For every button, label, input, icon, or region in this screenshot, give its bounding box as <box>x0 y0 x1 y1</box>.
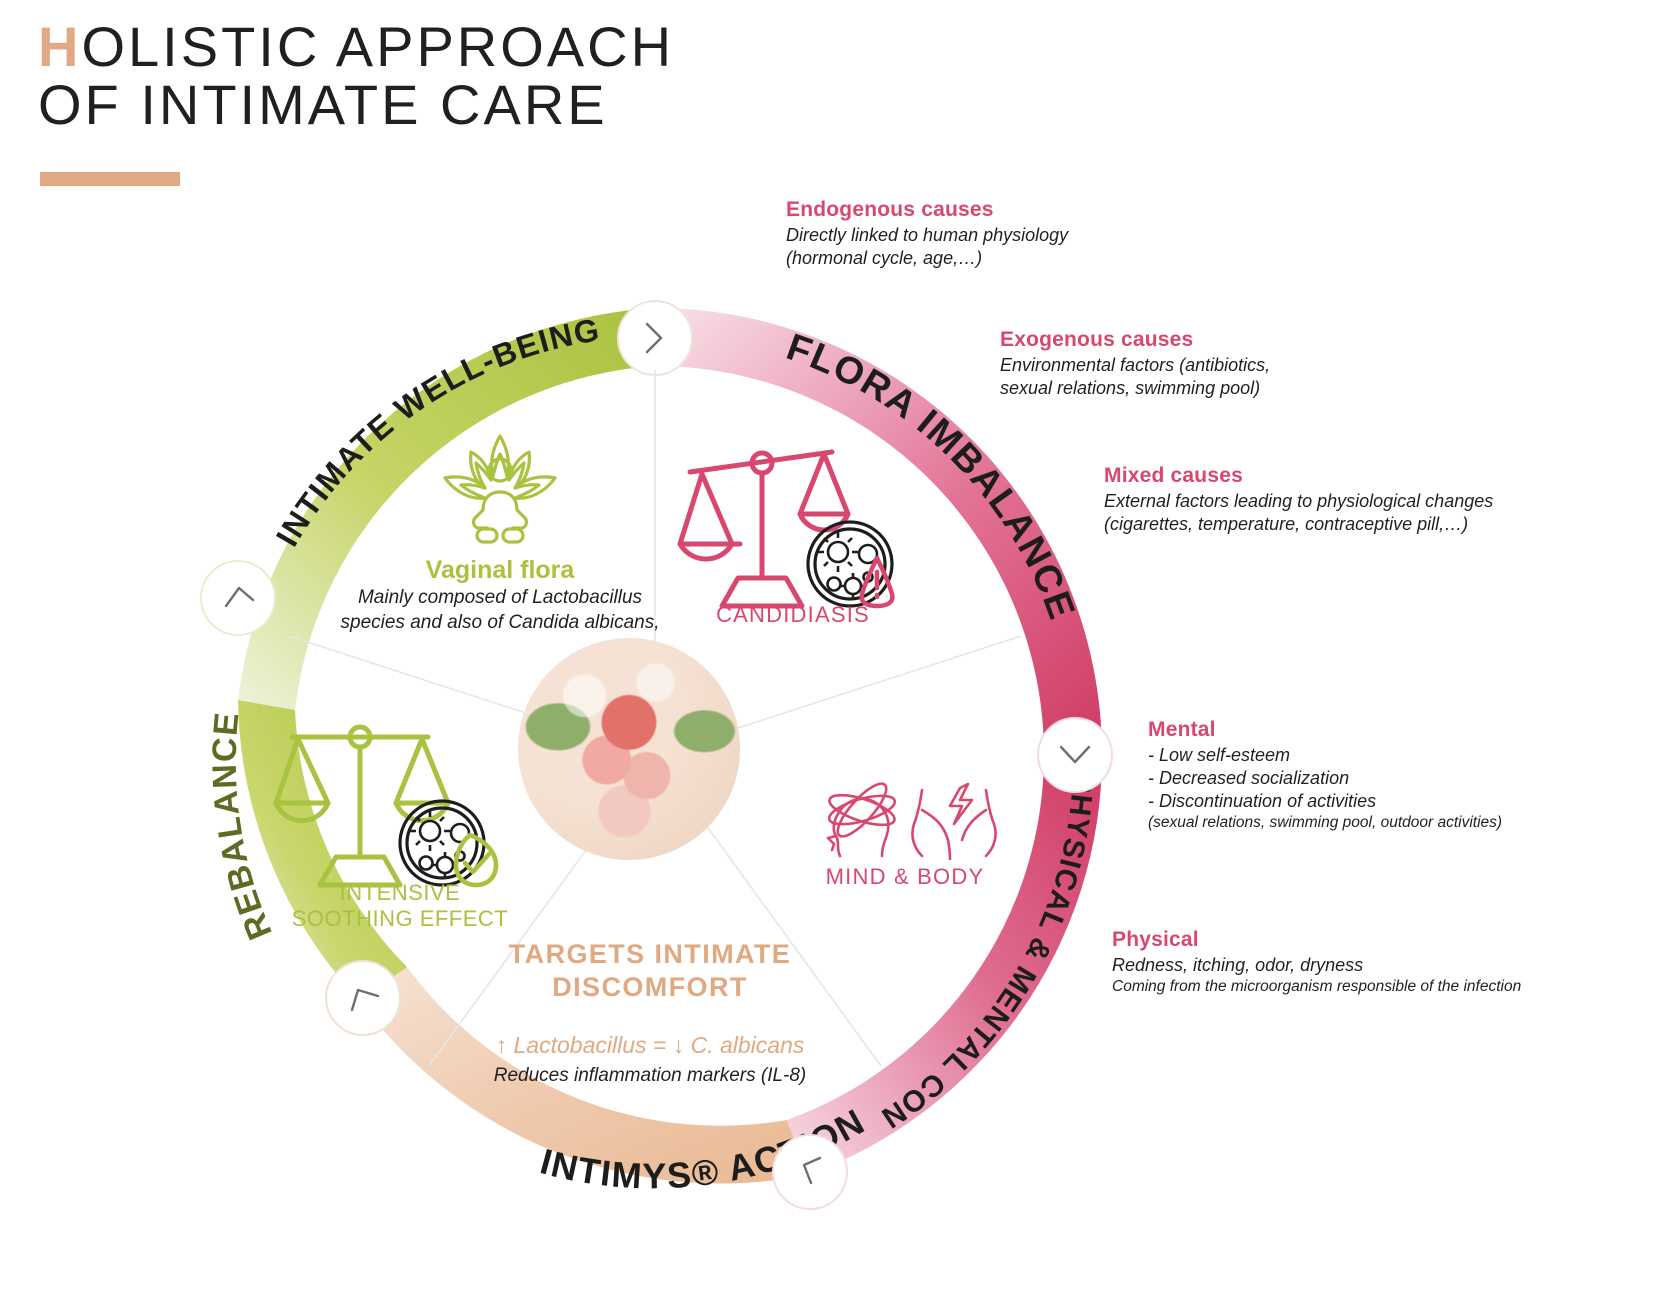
info-physical-head: Physical <box>1112 928 1521 952</box>
targets-title-line-1: TARGETS INTIMATE <box>509 939 791 969</box>
segment-targets-discomfort: TARGETS INTIMATE DISCOMFORT ↑ Lactobacil… <box>455 938 845 1087</box>
vaginal-flora-line-1: Mainly composed of Lactobacillus <box>330 585 670 610</box>
info-exogenous-causes: Exogenous causes Environmental factors (… <box>1000 328 1270 400</box>
info-mental: Mental - Low self-esteem - Decreased soc… <box>1148 718 1502 833</box>
ring-marker-right[interactable] <box>1038 718 1112 792</box>
info-mental-head: Mental <box>1148 718 1502 742</box>
info-physical-small-line: Coming from the microorganism responsibl… <box>1112 977 1521 997</box>
segment-soothing-effect: INTENSIVE SOOTHING EFFECT <box>270 715 530 932</box>
title-line-1-rest: OLISTIC APPROACH <box>81 15 674 78</box>
info-endogenous-line-1: Directly linked to human physiology <box>786 224 1068 247</box>
mind-body-label: MIND & BODY <box>800 864 1010 890</box>
info-mixed-line-1: External factors leading to physiologica… <box>1104 490 1493 513</box>
info-exogenous-line-2: sexual relations, swimming pool) <box>1000 377 1270 400</box>
title-initial: H <box>38 15 81 78</box>
info-mental-line-3: - Discontinuation of activities <box>1148 790 1502 813</box>
ring-marker-left[interactable] <box>201 561 275 635</box>
ring-marker-bottom-left[interactable] <box>326 961 400 1035</box>
targets-title: TARGETS INTIMATE DISCOMFORT <box>455 938 845 1004</box>
info-exogenous-line-1: Environmental factors (antibiotics, <box>1000 354 1270 377</box>
title-line-2: OF INTIMATE CARE <box>38 76 674 134</box>
info-mixed-head: Mixed causes <box>1104 464 1493 488</box>
unbalanced-scale-icon <box>672 436 912 616</box>
ring-marker-top[interactable] <box>618 301 692 375</box>
title-underline-rule <box>40 172 180 186</box>
info-physical-line-1: Redness, itching, odor, dryness <box>1112 954 1521 977</box>
soothing-label-line-1: INTENSIVE <box>270 880 530 906</box>
lotus-meditation-icon <box>435 430 565 548</box>
info-exogenous-head: Exogenous causes <box>1000 328 1270 352</box>
title-line-1: HOLISTIC APPROACH <box>38 18 674 76</box>
info-mental-small-line: (sexual relations, swimming pool, outdoo… <box>1148 813 1502 833</box>
info-mixed-causes: Mixed causes External factors leading to… <box>1104 464 1493 536</box>
head-and-body-icon <box>810 770 1000 860</box>
vaginal-flora-line-2: species and also of Candida albicans, <box>330 610 670 635</box>
vaginal-flora-title: Vaginal flora <box>330 556 670 585</box>
segment-mind-body: MIND & BODY <box>800 770 1010 890</box>
info-physical: Physical Redness, itching, odor, dryness… <box>1112 928 1521 997</box>
info-mixed-line-2: (cigarettes, temperature, contraceptive … <box>1104 513 1493 536</box>
balanced-scale-icon <box>270 715 510 890</box>
info-mental-line-2: - Decreased socialization <box>1148 767 1502 790</box>
soothing-label-line-2: SOOTHING EFFECT <box>270 906 530 932</box>
targets-title-line-2: DISCOMFORT <box>552 972 748 1002</box>
ring-marker-bottom-right[interactable] <box>773 1135 847 1209</box>
segment-candidiasis: CANDIDIASIS <box>672 436 922 628</box>
segment-vaginal-flora: Vaginal flora Mainly composed of Lactoba… <box>330 430 670 635</box>
page-title: HOLISTIC APPROACH OF INTIMATE CARE <box>38 18 674 134</box>
flower-uterus-photo <box>518 638 740 860</box>
warning-triangle-icon <box>862 558 893 606</box>
targets-equation: ↑ Lactobacillus = ↓ C. albicans <box>455 1032 845 1059</box>
info-endogenous-line-2: (hormonal cycle, age,…) <box>786 247 1068 270</box>
info-endogenous-head: Endogenous causes <box>786 198 1068 222</box>
info-endogenous-causes: Endogenous causes Directly linked to hum… <box>786 198 1068 270</box>
info-mental-line-1: - Low self-esteem <box>1148 744 1502 767</box>
targets-subtext: Reduces inflammation markers (IL-8) <box>455 1065 845 1087</box>
